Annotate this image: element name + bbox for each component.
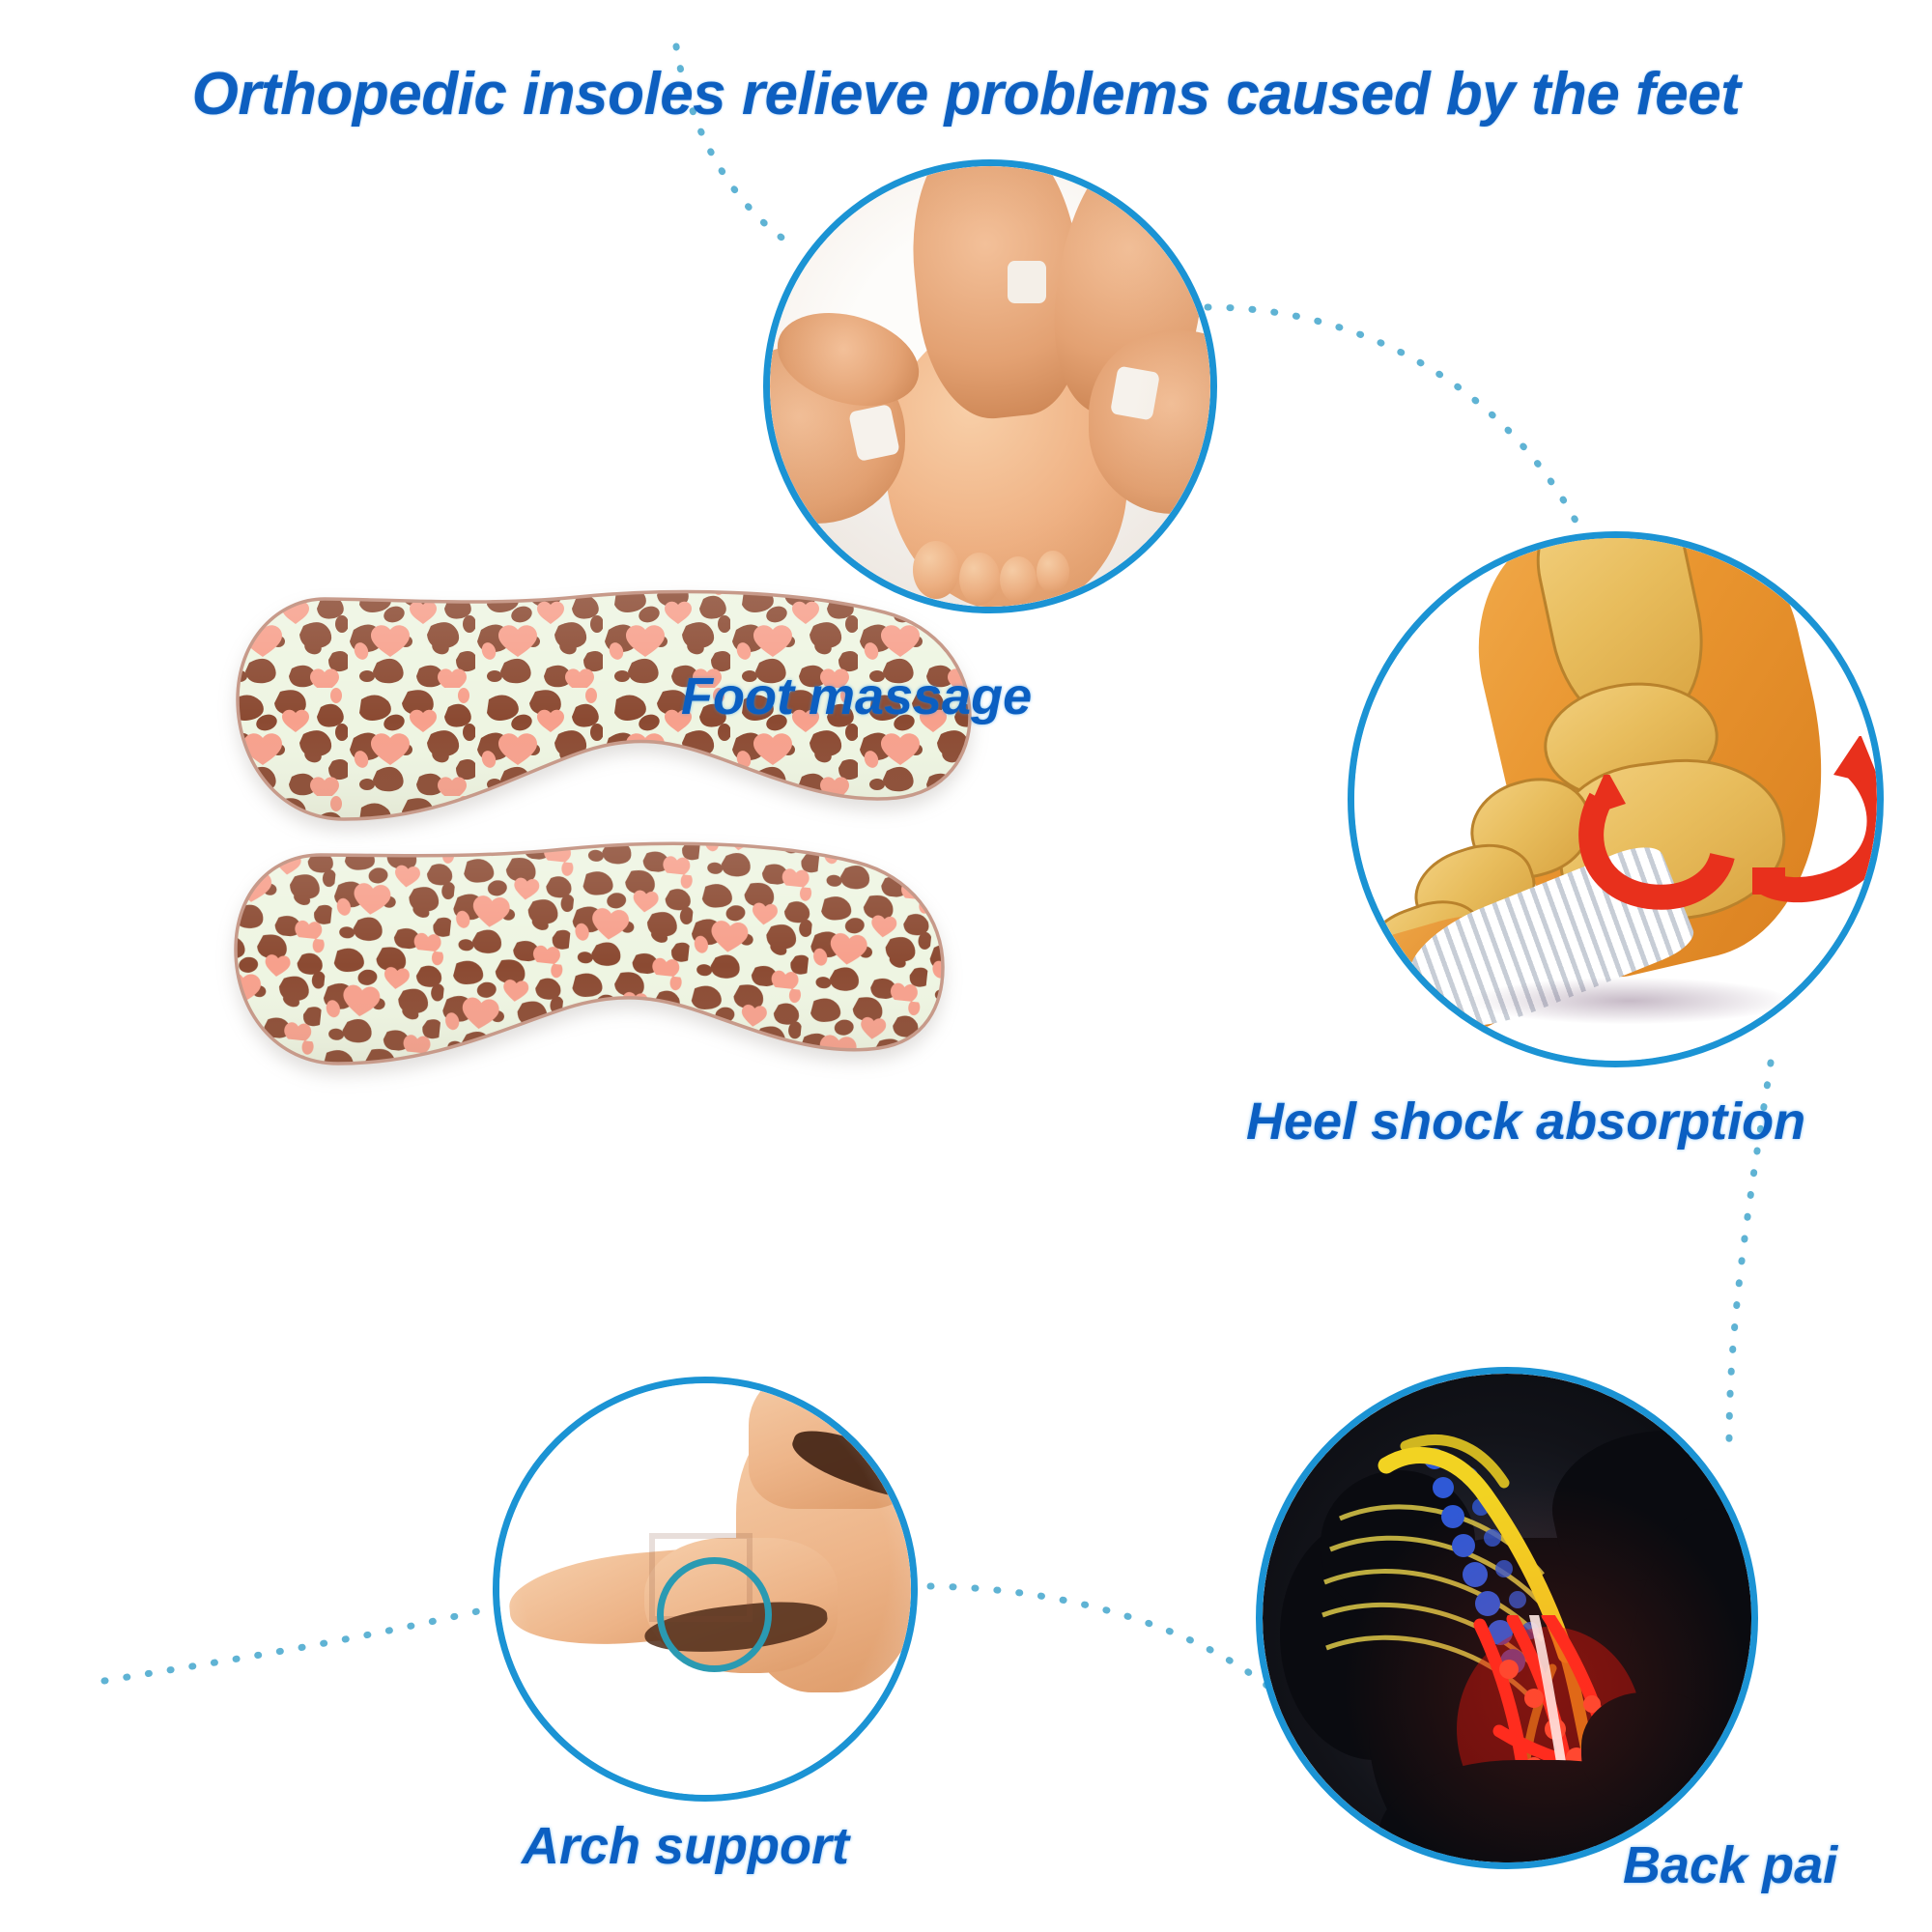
- callout-back-pain[interactable]: [1256, 1367, 1758, 1869]
- connector-arch-to-back: [908, 1586, 1285, 1700]
- caption-heel-shock-absorption: Heel shock absorption: [1246, 1092, 1805, 1151]
- caption-arch-support: Arch support: [522, 1816, 849, 1876]
- connector-left-edge-to-arch: [104, 1605, 502, 1681]
- shock-arrow-outer: [1741, 736, 1877, 910]
- foot-massage-photo: [770, 166, 1210, 607]
- callout-heel-shock-absorption[interactable]: [1348, 531, 1884, 1067]
- heel-anatomy-illustration: [1354, 538, 1877, 1061]
- shock-arrow-inner: [1572, 775, 1736, 920]
- caption-foot-massage: Foot massage: [681, 667, 1032, 726]
- back-pain-illustration: [1263, 1374, 1751, 1862]
- connector-massage-to-heel: [1207, 307, 1582, 533]
- infographic-canvas: Orthopedic insoles relieve problems caus…: [0, 0, 1932, 1932]
- page-title: Orthopedic insoles relieve problems caus…: [0, 60, 1932, 128]
- callout-arch-support[interactable]: [493, 1377, 918, 1802]
- arch-support-photo: [499, 1383, 911, 1795]
- callout-foot-massage[interactable]: [763, 159, 1217, 613]
- caption-back-pain: Back pai: [1623, 1835, 1837, 1895]
- insole-right[interactable]: [220, 826, 954, 1079]
